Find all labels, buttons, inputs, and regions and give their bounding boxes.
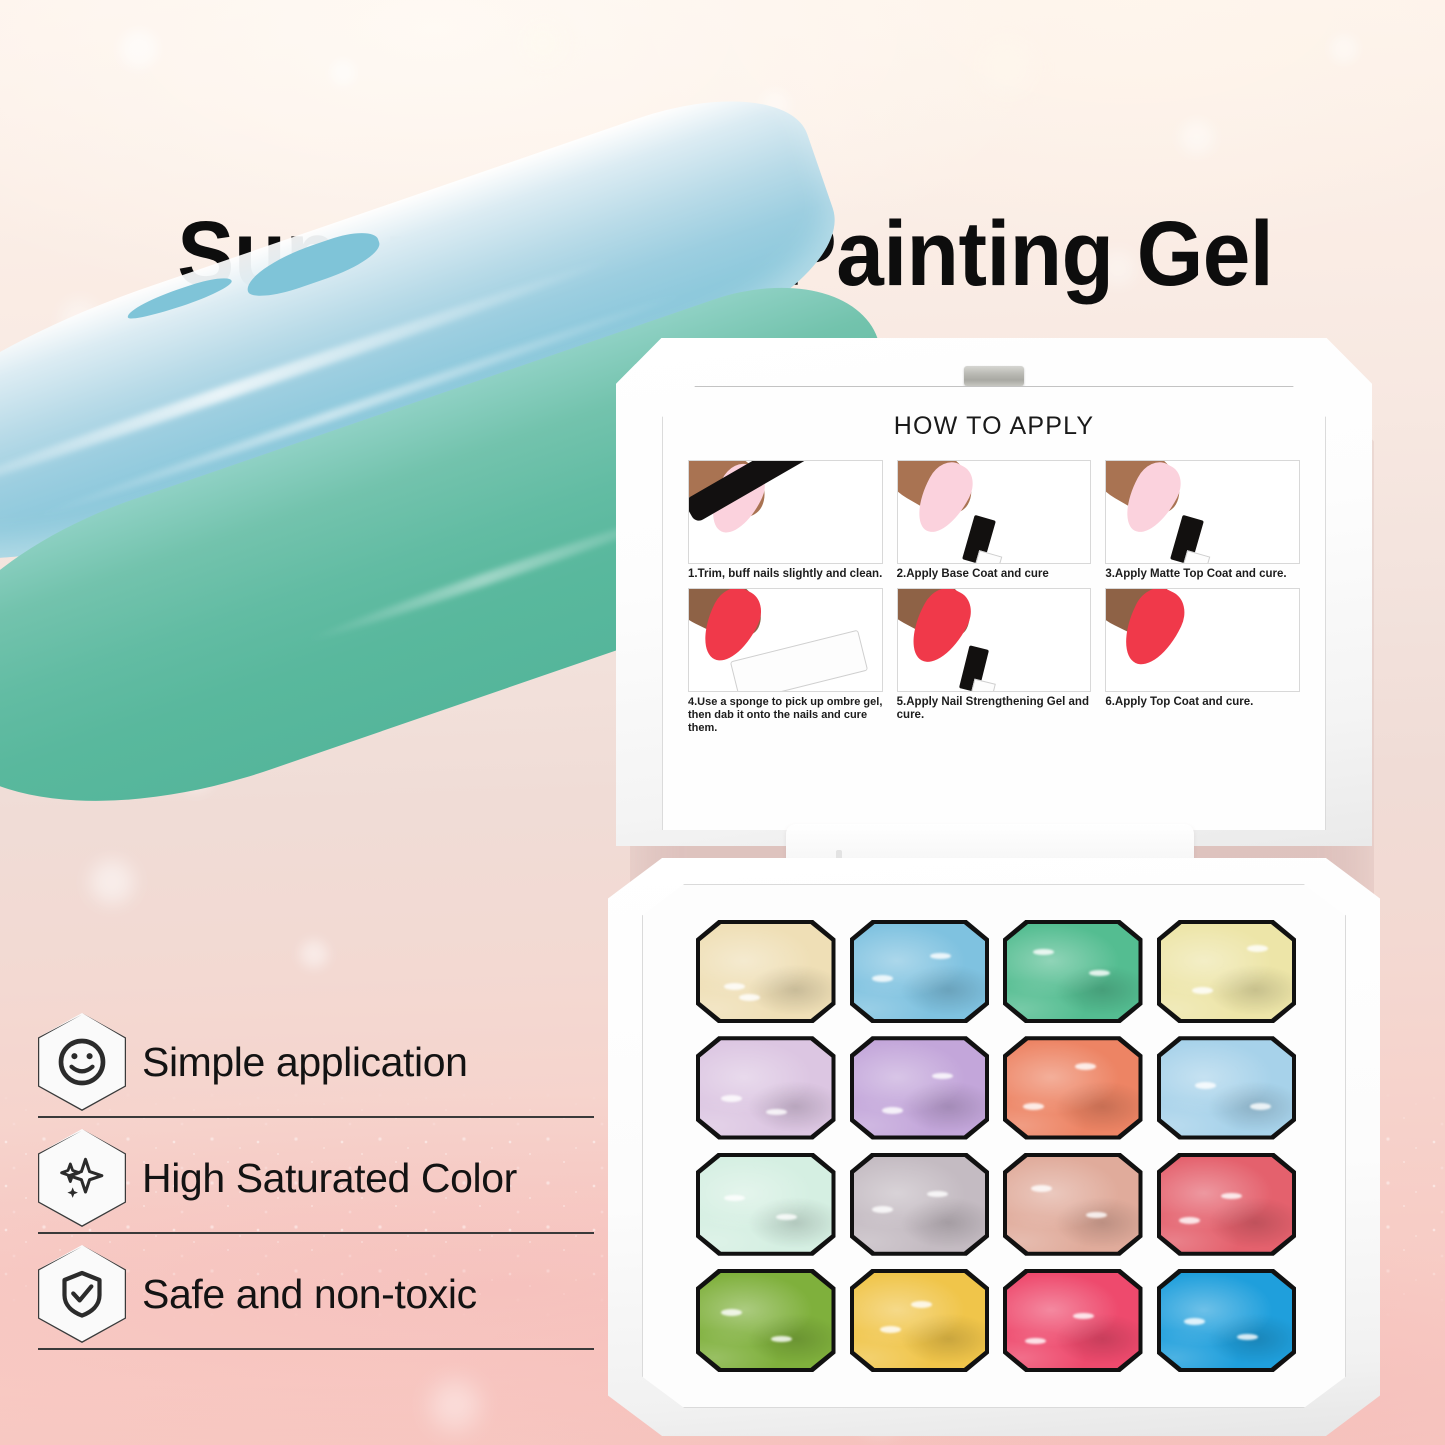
palette-gel-warm-grey <box>854 1157 986 1252</box>
palette-gel-lavender <box>854 1040 986 1135</box>
gel-swirl <box>700 1157 832 1252</box>
sponge-icon <box>730 629 868 691</box>
gel-swirl <box>854 924 986 1019</box>
palette-gel-cyan-blue <box>1161 1273 1293 1368</box>
gel-gloss-highlight <box>724 1195 745 1202</box>
feature-label: Safe and non-toxic <box>142 1271 477 1318</box>
instruction-step: 2.Apply Base Coat and cure <box>897 460 1092 582</box>
feature-divider <box>38 1232 594 1234</box>
brush-handle-icon <box>970 678 996 691</box>
palette-gel-lilac-pink <box>700 1040 832 1135</box>
gel-swirl <box>854 1273 986 1368</box>
palette-well[interactable] <box>696 1269 836 1372</box>
palette-well[interactable] <box>1003 1269 1143 1372</box>
gel-swirl <box>1161 924 1293 1019</box>
palette-gel-baby-blue <box>1161 1040 1293 1135</box>
smiley-icon <box>54 1034 110 1090</box>
howto-heading: HOW TO APPLY <box>662 412 1326 441</box>
palette-well[interactable] <box>696 1153 836 1256</box>
gel-palette-case: HOW TO APPLY 1.Trim, buff nails slightly… <box>608 338 1380 1436</box>
shield-check-icon <box>54 1266 110 1322</box>
palette-well[interactable] <box>1157 920 1297 1023</box>
feature-list: Simple application High Saturated Color <box>38 1004 594 1352</box>
step-caption: 4.Use a sponge to pick up ombre gel, the… <box>688 696 883 735</box>
feature-item-safe-and-non-toxic: Safe and non-toxic <box>38 1236 594 1352</box>
gel-swirl <box>1007 1040 1139 1135</box>
palette-well[interactable] <box>696 920 836 1023</box>
case-base <box>608 858 1380 1436</box>
palette-gel-cream-beige <box>700 924 832 1019</box>
palette-well[interactable] <box>1003 920 1143 1023</box>
product-marketing-image: Super Smooth Painting Gel Airy Feeling N… <box>0 0 1445 1445</box>
palette-gel-coral-orange <box>1007 1040 1139 1135</box>
gel-swirl <box>1007 924 1139 1019</box>
gel-swirl <box>854 1157 986 1252</box>
instruction-step: 3.Apply Matte Top Coat and cure. <box>1105 460 1300 582</box>
sparkles-icon <box>54 1150 110 1206</box>
feature-divider <box>38 1348 594 1350</box>
brush-handle-icon <box>973 550 1002 564</box>
palette-well[interactable] <box>850 920 990 1023</box>
step-illustration <box>1105 588 1300 692</box>
step-caption: 6.Apply Top Coat and cure. <box>1105 696 1300 710</box>
step-illustration <box>688 460 883 564</box>
palette-well[interactable] <box>1003 1153 1143 1256</box>
step-illustration <box>1105 460 1300 564</box>
feature-item-high-saturated-color: High Saturated Color <box>38 1120 594 1236</box>
gel-swirl <box>1161 1040 1293 1135</box>
gel-gloss-highlight <box>930 953 951 960</box>
feature-icon-frame <box>38 1129 126 1227</box>
feature-label: Simple application <box>142 1039 468 1086</box>
gel-gloss-highlight <box>882 1107 903 1114</box>
gel-gloss-highlight <box>880 1326 901 1333</box>
palette-well[interactable] <box>850 1153 990 1256</box>
gel-gloss-highlight <box>724 983 745 990</box>
gel-swirl <box>700 1273 832 1368</box>
gel-swirl <box>700 924 832 1019</box>
palette-well[interactable] <box>1157 1269 1297 1372</box>
gel-gloss-highlight <box>1195 1082 1216 1089</box>
instruction-steps: 1.Trim, buff nails slightly and clean. 2… <box>688 460 1300 734</box>
palette-gel-dusty-rose <box>1007 1157 1139 1252</box>
palette-gel-pale-yellow <box>1161 924 1293 1019</box>
gel-gloss-highlight <box>721 1309 742 1316</box>
palette-well[interactable] <box>1003 1036 1143 1139</box>
gel-gloss-highlight <box>872 1206 893 1213</box>
gel-swirl <box>854 1040 986 1135</box>
step-illustration <box>897 588 1092 692</box>
feature-label: High Saturated Color <box>142 1155 517 1202</box>
clasp-icon[interactable] <box>964 366 1024 386</box>
case-lid[interactable]: HOW TO APPLY 1.Trim, buff nails slightly… <box>616 338 1372 846</box>
palette-gel-coral-red <box>1161 1157 1293 1252</box>
step-caption: 3.Apply Matte Top Coat and cure. <box>1105 568 1300 582</box>
palette-gel-raspberry <box>1007 1273 1139 1368</box>
feature-icon-frame <box>38 1013 126 1111</box>
feature-divider <box>38 1116 594 1118</box>
palette-well[interactable] <box>1157 1153 1297 1256</box>
step-caption: 5.Apply Nail Strengthening Gel and cure. <box>897 696 1092 723</box>
instruction-step: 5.Apply Nail Strengthening Gel and cure. <box>897 588 1092 735</box>
instruction-step: 4.Use a sponge to pick up ombre gel, the… <box>688 588 883 735</box>
palette-gel-jade-green <box>1007 924 1139 1019</box>
palette-well[interactable] <box>850 1036 990 1139</box>
step-illustration <box>897 460 1092 564</box>
palette-gel-sky-blue <box>854 924 986 1019</box>
gel-swirl <box>1007 1273 1139 1368</box>
instruction-step: 6.Apply Top Coat and cure. <box>1105 588 1300 735</box>
palette-tray <box>642 884 1346 1408</box>
feature-item-simple-application: Simple application <box>38 1004 594 1120</box>
step-caption: 2.Apply Base Coat and cure <box>897 568 1092 582</box>
gel-gloss-highlight <box>1075 1063 1096 1070</box>
palette-gel-mint-white <box>700 1157 832 1252</box>
gel-gloss-highlight <box>1192 987 1213 994</box>
step-illustration <box>688 588 883 692</box>
palette-gel-golden-yellow <box>854 1273 986 1368</box>
gel-swirl <box>1007 1157 1139 1252</box>
palette-well[interactable] <box>850 1269 990 1372</box>
gel-gloss-highlight <box>1031 1185 1052 1192</box>
gel-swirl <box>1161 1273 1293 1368</box>
feature-icon-frame <box>38 1245 126 1343</box>
color-grid <box>696 920 1296 1372</box>
gel-swirl <box>1161 1157 1293 1252</box>
instruction-panel: HOW TO APPLY 1.Trim, buff nails slightly… <box>662 386 1326 830</box>
step-caption: 1.Trim, buff nails slightly and clean. <box>688 568 883 582</box>
gel-gloss-highlight <box>1247 945 1268 952</box>
palette-gel-olive-green <box>700 1273 832 1368</box>
palette-well[interactable] <box>696 1036 836 1139</box>
gel-gloss-highlight <box>1023 1103 1044 1110</box>
palette-well[interactable] <box>1157 1036 1297 1139</box>
instruction-step: 1.Trim, buff nails slightly and clean. <box>688 460 883 582</box>
gel-gloss-highlight <box>1250 1103 1271 1110</box>
brush-handle-icon <box>1182 550 1211 564</box>
gel-swirl <box>700 1040 832 1135</box>
